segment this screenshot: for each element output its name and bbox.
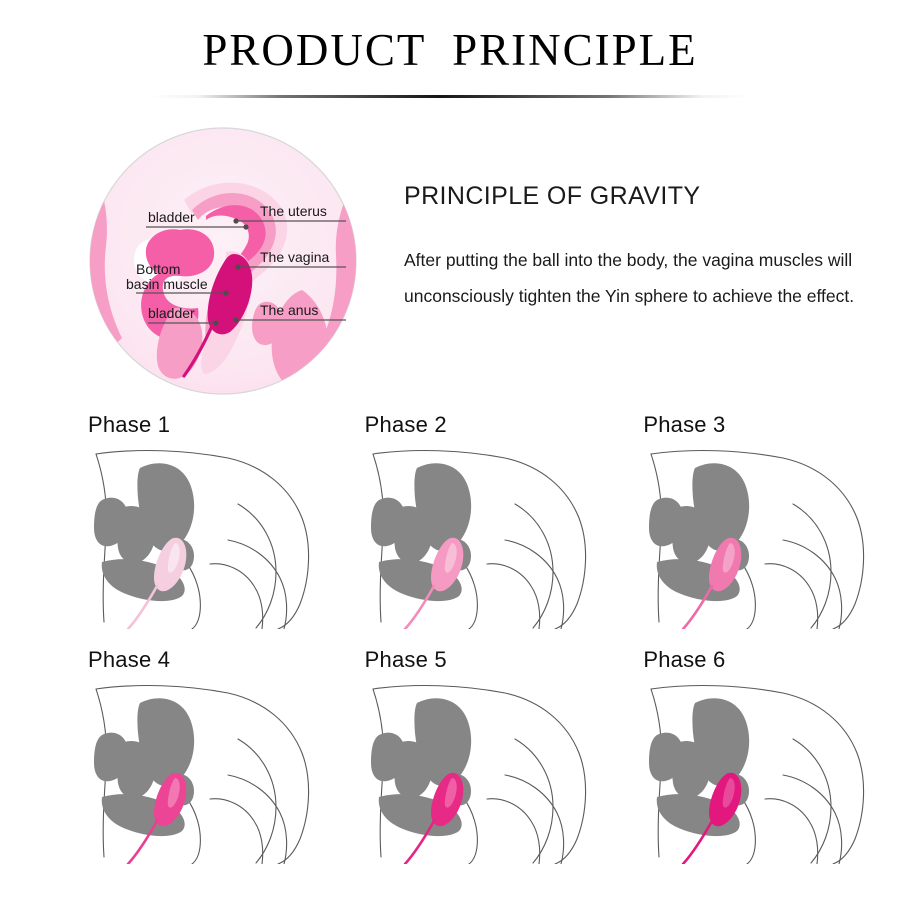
label-the-vagina: The vagina bbox=[260, 249, 329, 265]
label-bottom-basin-line1: Bottom bbox=[136, 261, 180, 277]
gravity-description: After putting the ball into the body, th… bbox=[404, 243, 870, 315]
thigh-inner bbox=[210, 564, 263, 629]
dot-uterus bbox=[233, 218, 238, 223]
thigh-outline bbox=[228, 540, 287, 629]
thigh-inner bbox=[765, 799, 818, 864]
gravity-heading: PRINCIPLE OF GRAVITY bbox=[404, 182, 870, 211]
thigh-outline bbox=[505, 540, 564, 629]
buttock-curve bbox=[238, 504, 276, 628]
phase-figure-5 bbox=[355, 679, 605, 864]
phase-figure-6 bbox=[633, 679, 883, 864]
groin-line bbox=[741, 562, 755, 629]
dot-anus bbox=[233, 317, 238, 322]
thigh-inner bbox=[487, 799, 540, 864]
phase-cell-1: Phase 1 bbox=[78, 412, 345, 629]
phase-figure-3 bbox=[633, 444, 883, 629]
label-bottom-basin-line2: basin muscle bbox=[126, 276, 208, 292]
phase-figure-1 bbox=[78, 444, 328, 629]
phase-cell-6: Phase 6 bbox=[633, 647, 900, 864]
buttock-curve bbox=[793, 504, 831, 628]
phase-label-2: Phase 2 bbox=[365, 412, 622, 438]
buttock-curve bbox=[793, 739, 831, 863]
organ-silhouettes bbox=[649, 698, 749, 836]
buttock-curve bbox=[515, 504, 553, 628]
thigh-outline bbox=[505, 775, 564, 864]
thigh-outline bbox=[783, 775, 842, 864]
phase-figure-2 bbox=[355, 444, 605, 629]
anatomy-diagram: bladder Bottom basin muscle bladder The … bbox=[88, 126, 358, 396]
groin-line bbox=[186, 797, 200, 864]
phase-label-3: Phase 3 bbox=[643, 412, 900, 438]
phase-cell-4: Phase 4 bbox=[78, 647, 345, 864]
phase-label-1: Phase 1 bbox=[88, 412, 345, 438]
label-bladder-lower: bladder bbox=[148, 305, 195, 321]
phase-cell-5: Phase 5 bbox=[355, 647, 622, 864]
phase-row-bottom: Phase 4 bbox=[0, 647, 900, 864]
organ-silhouettes bbox=[94, 463, 194, 601]
thigh-inner bbox=[210, 799, 263, 864]
phase-figure-4 bbox=[78, 679, 328, 864]
phase-cell-2: Phase 2 bbox=[355, 412, 622, 629]
thigh-inner bbox=[765, 564, 818, 629]
groin-line bbox=[463, 562, 477, 629]
page-title: PRODUCT PRINCIPLE bbox=[0, 24, 900, 76]
dot-bottom-basin bbox=[223, 290, 228, 295]
label-the-anus: The anus bbox=[260, 302, 318, 318]
phase-cell-3: Phase 3 bbox=[633, 412, 900, 629]
gravity-section: PRINCIPLE OF GRAVITY After putting the b… bbox=[404, 182, 870, 315]
dot-vagina bbox=[235, 264, 240, 269]
thigh-outline bbox=[228, 775, 287, 864]
organ-silhouettes bbox=[371, 698, 471, 836]
groin-line bbox=[463, 797, 477, 864]
label-bladder-upper: bladder bbox=[148, 209, 195, 225]
organ-silhouettes bbox=[371, 463, 471, 601]
label-the-uterus: The uterus bbox=[260, 203, 327, 219]
groin-line bbox=[186, 562, 200, 629]
phase-grid: Phase 1 bbox=[0, 412, 900, 864]
groin-line bbox=[741, 797, 755, 864]
dot-bladder-lower bbox=[213, 320, 218, 325]
phase-label-6: Phase 6 bbox=[643, 647, 900, 673]
thigh-outline bbox=[783, 540, 842, 629]
phase-label-5: Phase 5 bbox=[365, 647, 622, 673]
title-divider bbox=[150, 95, 750, 98]
thigh-inner bbox=[487, 564, 540, 629]
organ-silhouettes bbox=[649, 463, 749, 601]
dot-bladder-upper bbox=[243, 224, 248, 229]
phase-row-top: Phase 1 bbox=[0, 412, 900, 629]
phase-label-4: Phase 4 bbox=[88, 647, 345, 673]
buttock-curve bbox=[238, 739, 276, 863]
buttock-curve bbox=[515, 739, 553, 863]
organ-silhouettes bbox=[94, 698, 194, 836]
